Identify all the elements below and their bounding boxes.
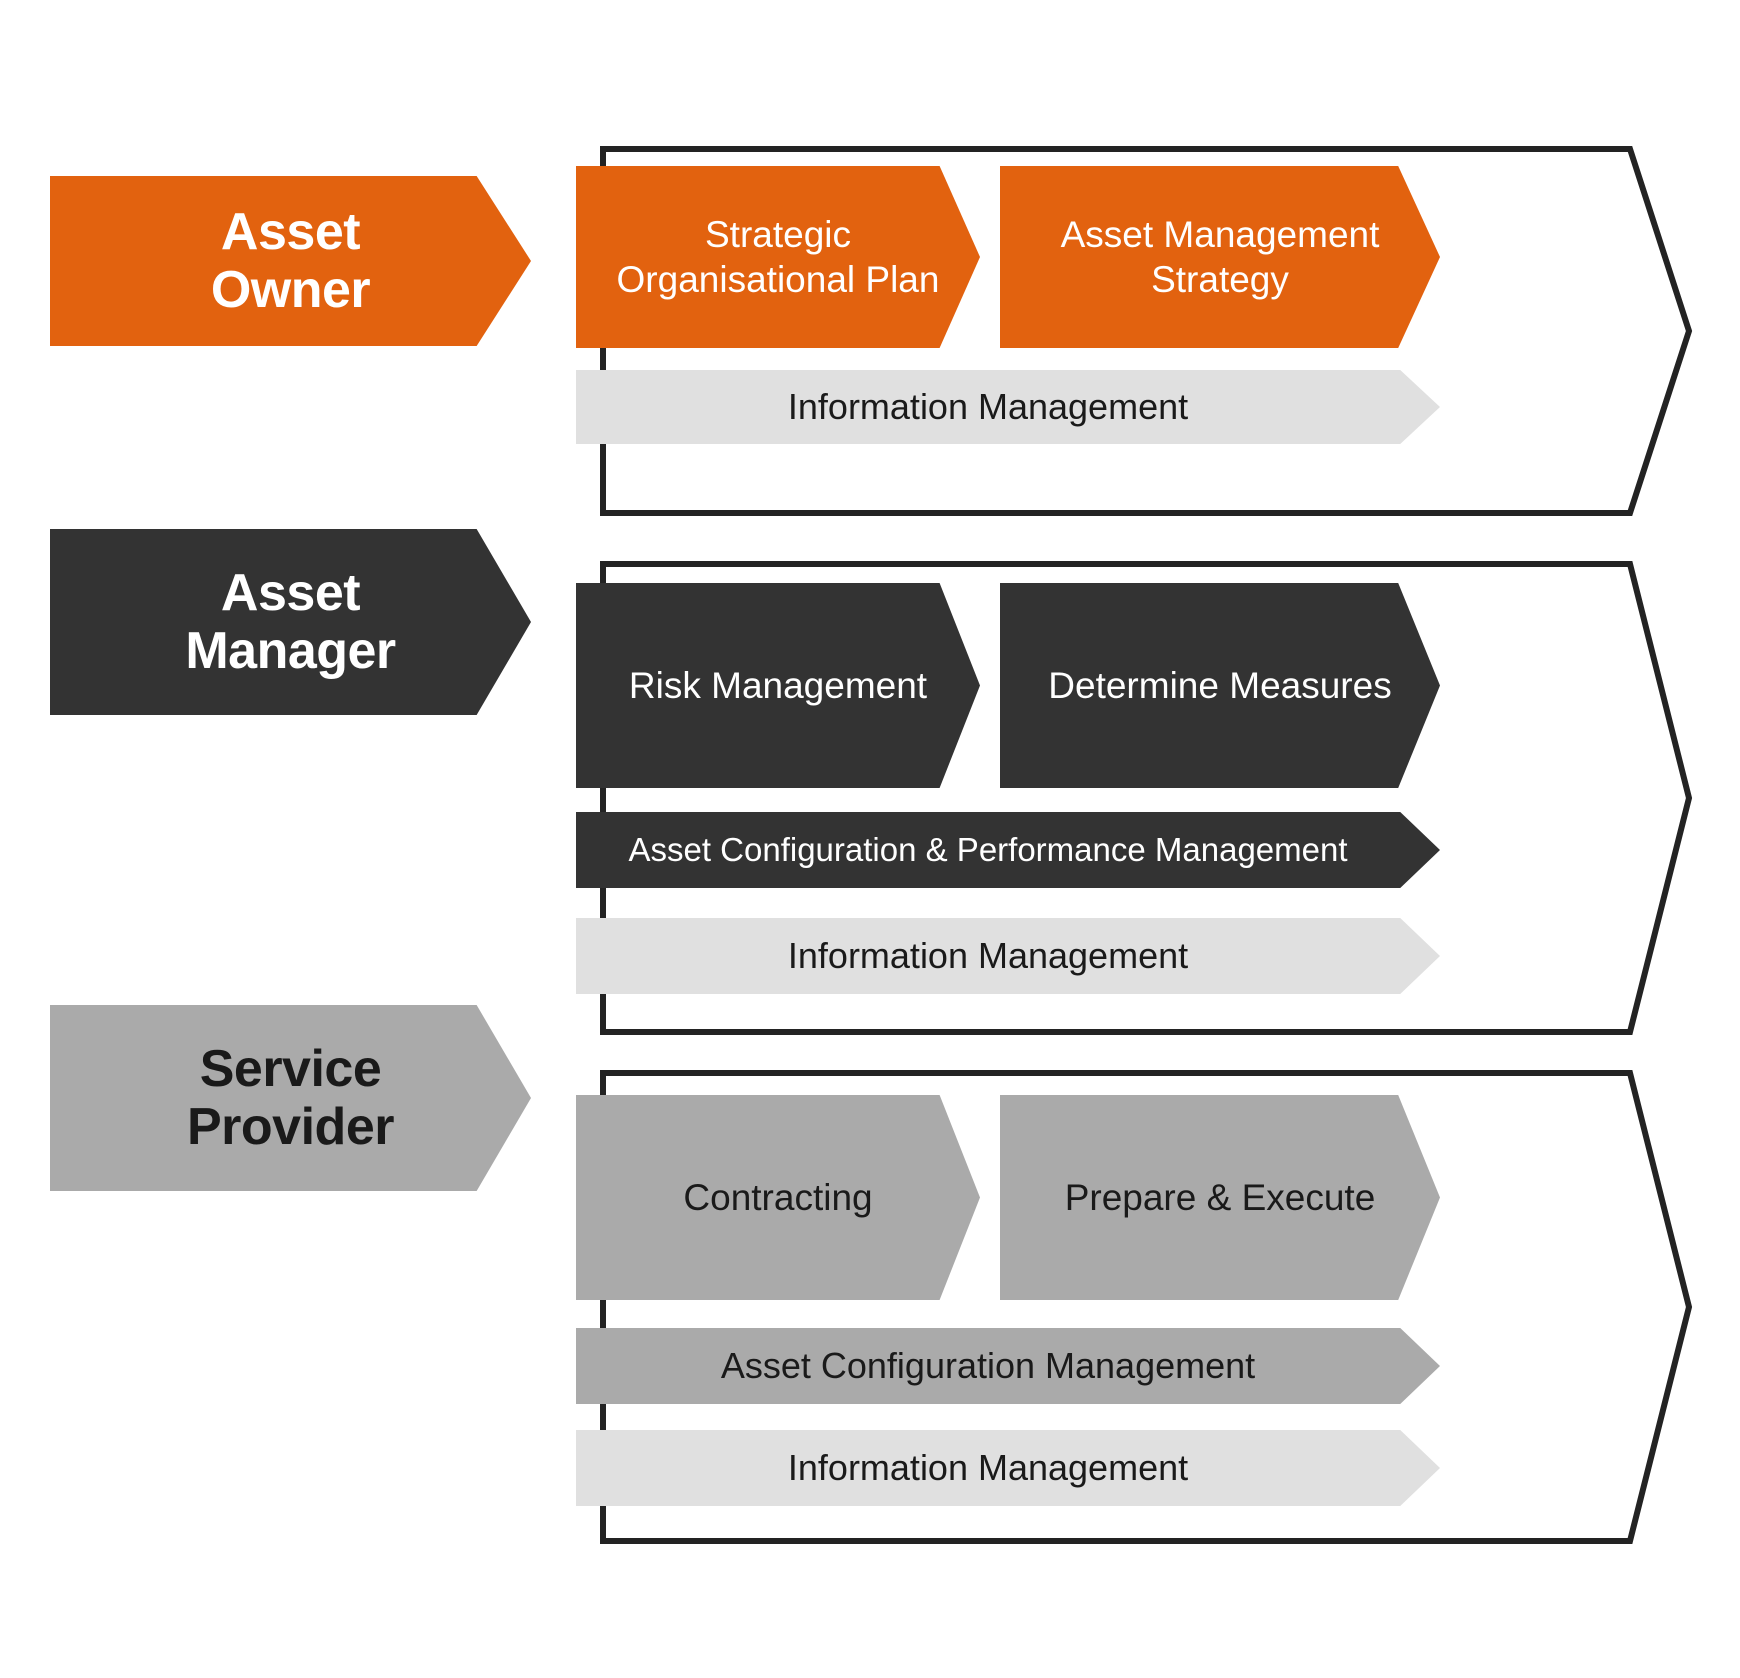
step-label-line: Measures — [1229, 665, 1391, 706]
band-information-management[interactable]: Information Management — [576, 370, 1440, 444]
band-asset-configuration-management[interactable]: Asset Configuration Management — [576, 1328, 1440, 1404]
role-label-line: Asset — [185, 564, 395, 622]
step-risk-management[interactable]: Risk Management — [576, 583, 980, 788]
role-label-line: Manager — [185, 622, 395, 680]
step-label-line: Asset — [1061, 214, 1154, 255]
step-strategic-organisational-plan[interactable]: Strategic Organisational Plan — [576, 166, 980, 348]
role-label-line: Owner — [211, 261, 370, 319]
step-label-line: Contracting — [683, 1177, 872, 1218]
band-information-management[interactable]: Information Management — [576, 918, 1440, 994]
role-label-line: Provider — [187, 1098, 394, 1156]
step-label-line: Determine — [1048, 665, 1219, 706]
step-label-line: Management — [1163, 214, 1379, 255]
band-label: Information Management — [788, 934, 1228, 977]
role-label-asset-owner[interactable]: Asset Owner — [50, 176, 531, 346]
band-information-management[interactable]: Information Management — [576, 1430, 1440, 1506]
step-label-line: Strategic — [705, 214, 851, 255]
step-prepare-execute[interactable]: Prepare & Execute — [1000, 1095, 1440, 1300]
step-label-line: Risk — [629, 665, 701, 706]
step-label-line: Prepare & — [1065, 1177, 1232, 1218]
step-contracting[interactable]: Contracting — [576, 1095, 980, 1300]
band-label: Information Management — [788, 385, 1228, 428]
diagram-canvas: Asset Owner Strategic Organisational Pla… — [0, 0, 1740, 1678]
band-label: Asset Configuration & Performance Manage… — [628, 830, 1387, 870]
role-label-service-provider[interactable]: Service Provider — [50, 1005, 531, 1191]
band-label: Asset Configuration Management — [721, 1344, 1295, 1387]
role-label-line: Asset — [211, 203, 370, 261]
band-asset-configuration-performance-management[interactable]: Asset Configuration & Performance Manage… — [576, 812, 1440, 888]
step-determine-measures[interactable]: Determine Measures — [1000, 583, 1440, 788]
step-asset-management-strategy[interactable]: Asset Management Strategy — [1000, 166, 1440, 348]
band-label: Information Management — [788, 1446, 1228, 1489]
role-label-asset-manager[interactable]: Asset Manager — [50, 529, 531, 715]
step-label-line: Organisational — [617, 259, 856, 300]
role-label-line: Service — [187, 1040, 394, 1098]
step-label-line: Strategy — [1151, 259, 1289, 300]
step-label-line: Execute — [1242, 1177, 1376, 1218]
step-label-line: Plan — [865, 259, 939, 300]
step-label-line: Management — [711, 665, 927, 706]
